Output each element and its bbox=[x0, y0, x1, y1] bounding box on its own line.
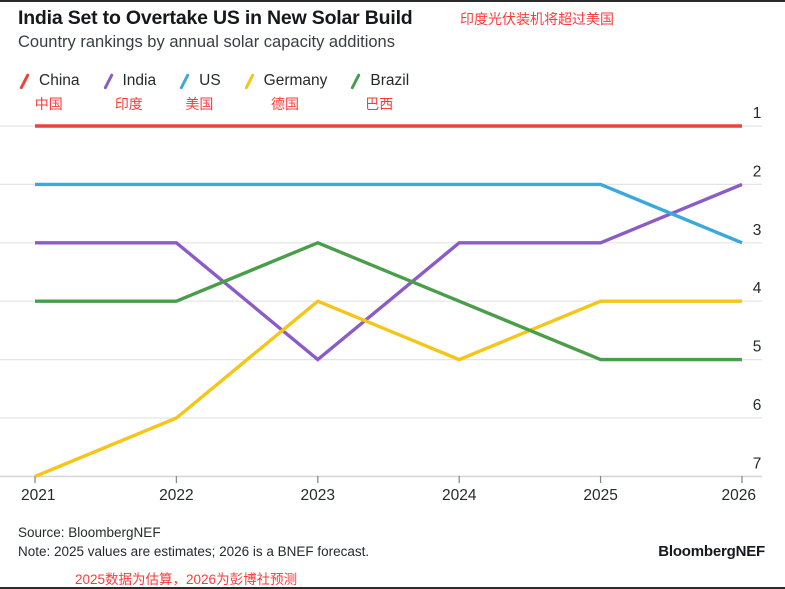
chart-plot-area: 1234567 202120222023202420252026 bbox=[0, 102, 785, 502]
line-chart-svg: 1234567 202120222023202420252026 bbox=[0, 102, 785, 502]
brand-logo: BloombergNEF bbox=[658, 543, 765, 560]
legend-item-label: India bbox=[123, 72, 157, 90]
x-tick-label-2021: 2021 bbox=[21, 487, 55, 502]
x-tick-label-2026: 2026 bbox=[722, 487, 756, 502]
gridlines bbox=[0, 126, 762, 483]
legend-item-china[interactable]: China bbox=[18, 72, 80, 90]
legend-swatch-icon bbox=[102, 73, 117, 90]
x-axis-labels: 202120222023202420252026 bbox=[21, 487, 756, 502]
y-tick-label-5: 5 bbox=[753, 339, 762, 356]
x-tick-label-2022: 2022 bbox=[159, 487, 193, 502]
y-tick-label-1: 1 bbox=[753, 105, 762, 122]
note-text: Note: 2025 values are estimates; 2026 is… bbox=[18, 544, 369, 559]
legend-swatch-icon bbox=[243, 73, 258, 90]
page-title: India Set to Overtake US in New Solar Bu… bbox=[18, 7, 413, 30]
legend-item-label: China bbox=[39, 72, 80, 90]
y-tick-label-4: 4 bbox=[753, 280, 762, 297]
y-tick-label-7: 7 bbox=[753, 455, 762, 472]
y-tick-label-3: 3 bbox=[753, 222, 762, 239]
series-line-us[interactable] bbox=[35, 184, 742, 242]
legend-item-label: US bbox=[199, 72, 221, 90]
legend-swatch-icon bbox=[178, 73, 193, 90]
source-text: Source: BloombergNEF bbox=[18, 525, 161, 540]
title-annotation-cn: 印度光伏装机将超过美国 bbox=[460, 9, 614, 29]
x-tick-label-2024: 2024 bbox=[442, 487, 477, 502]
legend-item-brazil[interactable]: Brazil bbox=[349, 72, 409, 90]
legend-swatch-icon bbox=[349, 73, 364, 90]
legend-item-label: Germany bbox=[264, 72, 328, 90]
y-tick-label-6: 6 bbox=[753, 397, 762, 414]
x-tick-label-2025: 2025 bbox=[583, 487, 617, 502]
legend-item-india[interactable]: India bbox=[102, 72, 157, 90]
legend-swatch-icon bbox=[18, 73, 33, 90]
legend-item-label: Brazil bbox=[370, 72, 409, 90]
legend-item-germany[interactable]: Germany bbox=[243, 72, 328, 90]
chart-page: India Set to Overtake US in New Solar Bu… bbox=[0, 0, 785, 589]
x-tick-label-2023: 2023 bbox=[301, 487, 335, 502]
series-line-germany[interactable] bbox=[35, 301, 742, 476]
legend-item-us[interactable]: US bbox=[178, 72, 221, 90]
note-annotation-cn: 2025数据为估算，2026为彭博社预测 bbox=[75, 568, 297, 588]
y-axis-labels: 1234567 bbox=[753, 105, 762, 472]
y-tick-label-2: 2 bbox=[753, 163, 762, 180]
chart-legend: ChinaIndiaUSGermanyBrazil bbox=[18, 70, 431, 92]
data-series bbox=[35, 126, 742, 476]
page-subtitle: Country rankings by annual solar capacit… bbox=[18, 33, 395, 52]
